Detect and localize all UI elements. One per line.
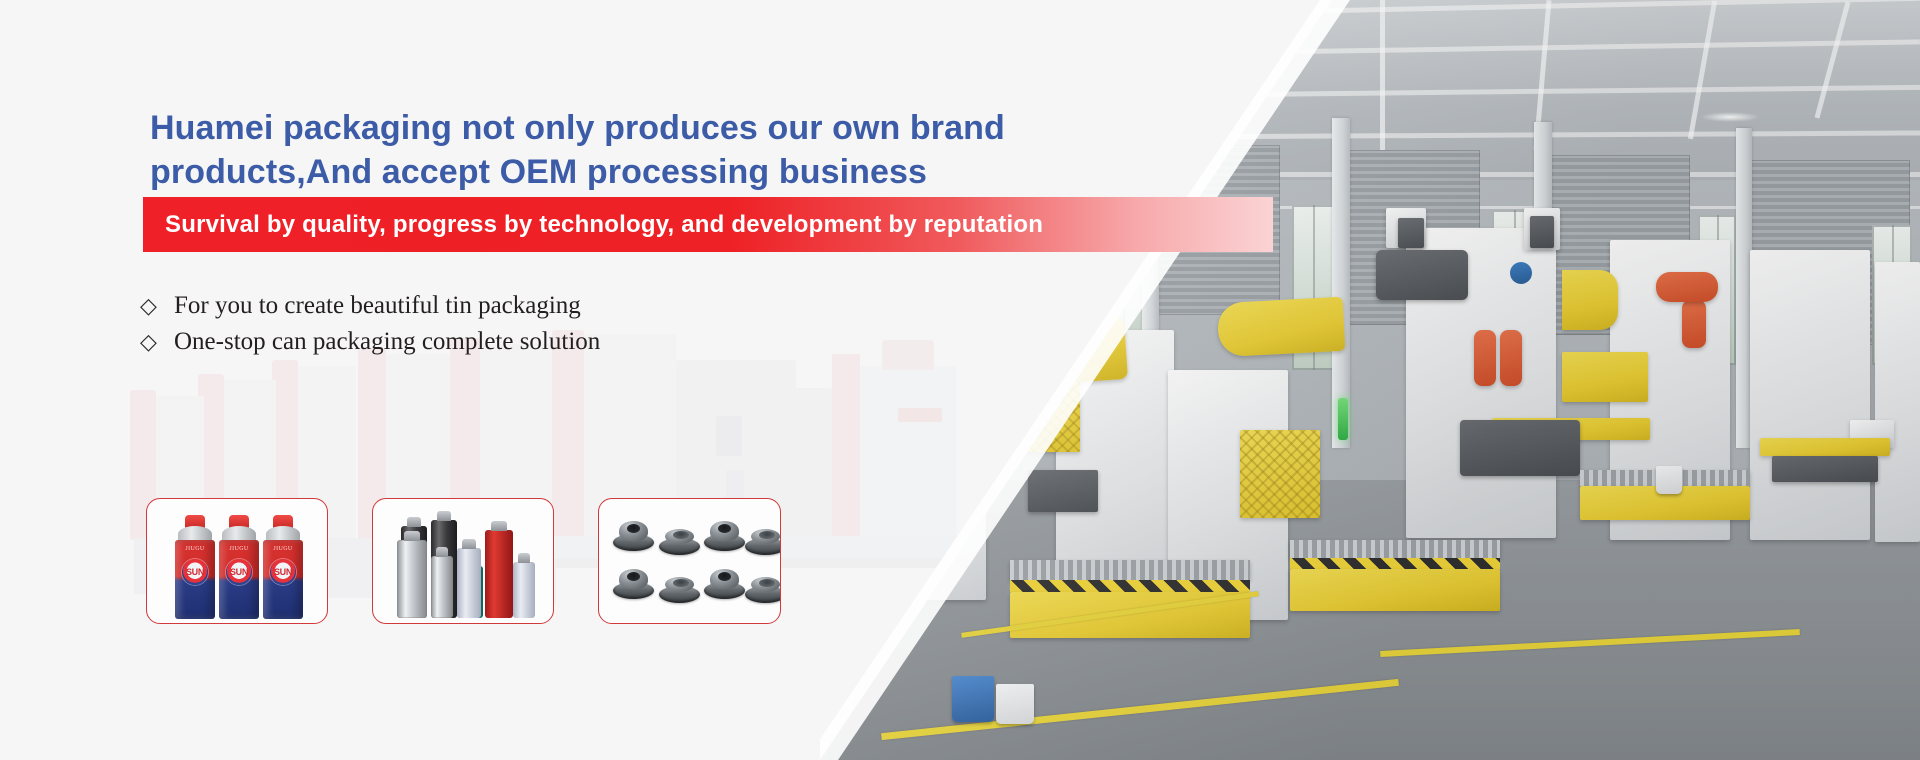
promotional-banner: Huamei packaging not only produces our o…: [0, 0, 1920, 760]
slogan-banner: Survival by quality, progress by technol…: [143, 197, 1273, 252]
product-card-assorted-aerosol-cans[interactable]: [372, 498, 554, 624]
product-card-butane-gas-cans[interactable]: JIUGU SUN JIUGU SUN JIUGU SUN: [146, 498, 328, 624]
can-brand-label: JIUGU: [173, 546, 217, 552]
diamond-bullet-icon: ◇: [140, 329, 174, 355]
product-card-list: JIUGU SUN JIUGU SUN JIUGU SUN: [146, 498, 781, 624]
can-brand-label: JIUGU: [261, 546, 305, 552]
can-label: SUN: [226, 567, 252, 577]
list-item-label: For you to create beautiful tin packagin…: [174, 292, 581, 320]
list-item: ◇ One-stop can packaging complete soluti…: [140, 324, 600, 360]
list-item: ◇ For you to create beautiful tin packag…: [140, 288, 600, 324]
product-card-metal-dome-caps[interactable]: [598, 498, 781, 624]
can-brand-label: JIUGU: [217, 546, 261, 552]
page-title: Huamei packaging not only produces our o…: [150, 107, 1180, 194]
diamond-bullet-icon: ◇: [140, 293, 174, 319]
slogan-text: Survival by quality, progress by technol…: [143, 211, 1043, 239]
list-item-label: One-stop can packaging complete solution: [174, 328, 600, 356]
feature-list: ◇ For you to create beautiful tin packag…: [140, 288, 600, 360]
can-label: SUN: [270, 567, 296, 577]
can-label: SUN: [182, 567, 208, 577]
